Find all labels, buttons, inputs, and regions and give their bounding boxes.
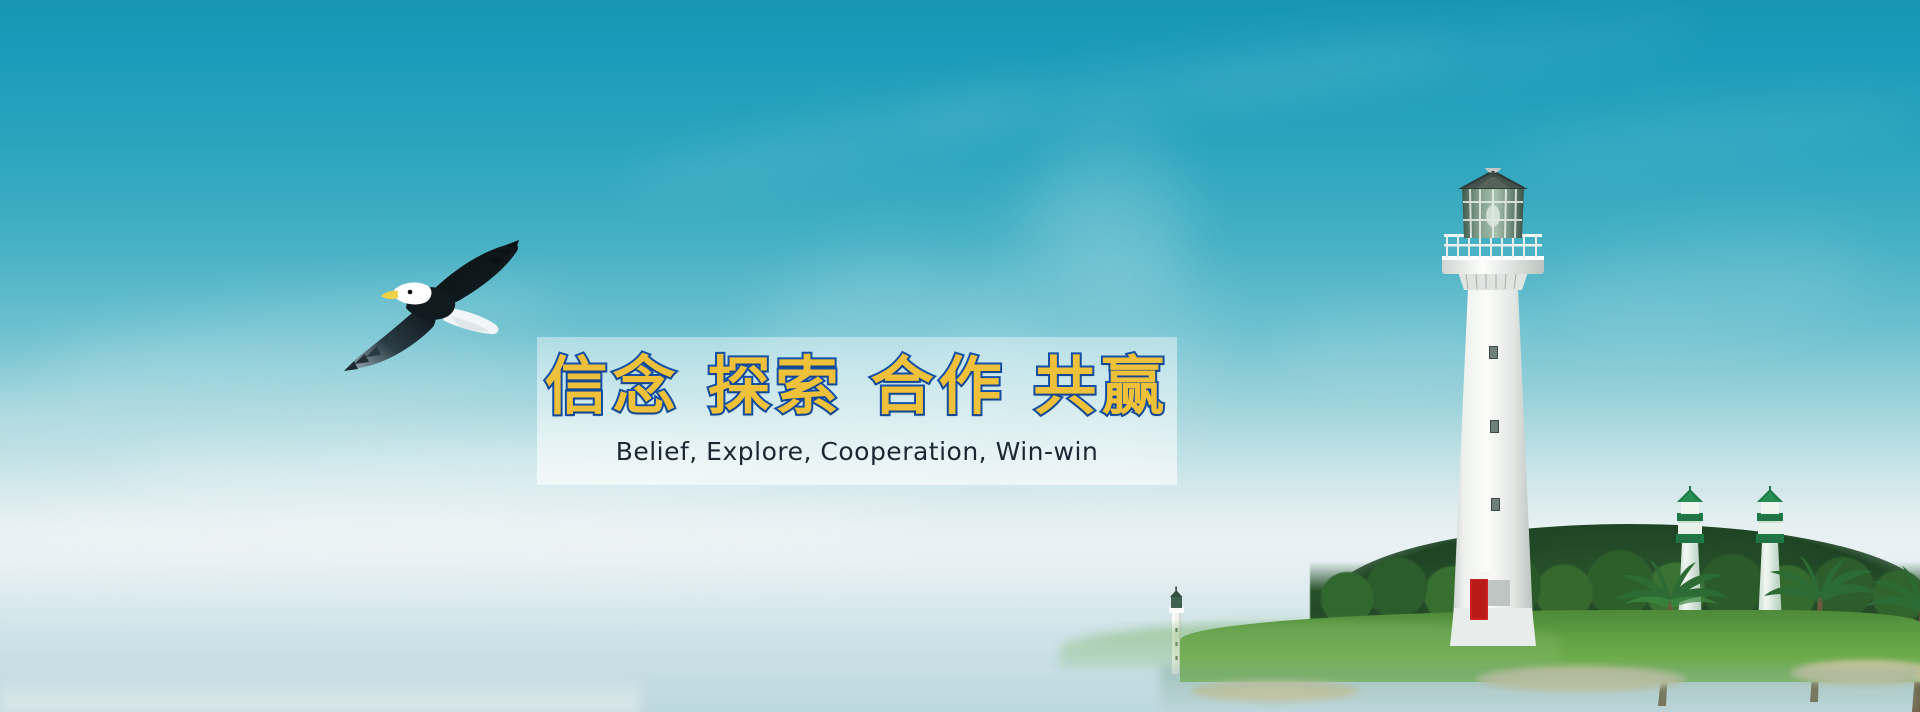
slogan-panel: 信念 探索 合作 共赢 Belief, Explore, Cooperation…: [537, 337, 1177, 485]
soaring-eagle-icon: [338, 228, 528, 383]
slogan-english: Belief, Explore, Cooperation, Win-win: [537, 437, 1177, 466]
shore-foam: [0, 672, 640, 712]
slogan-chinese: 信念 探索 合作 共赢: [537, 339, 1177, 435]
main-lighthouse-icon: [1418, 168, 1568, 648]
water-reflection: [1160, 666, 1920, 712]
hero-banner-image: 信念 探索 合作 共赢 Belief, Explore, Cooperation…: [0, 0, 1920, 712]
